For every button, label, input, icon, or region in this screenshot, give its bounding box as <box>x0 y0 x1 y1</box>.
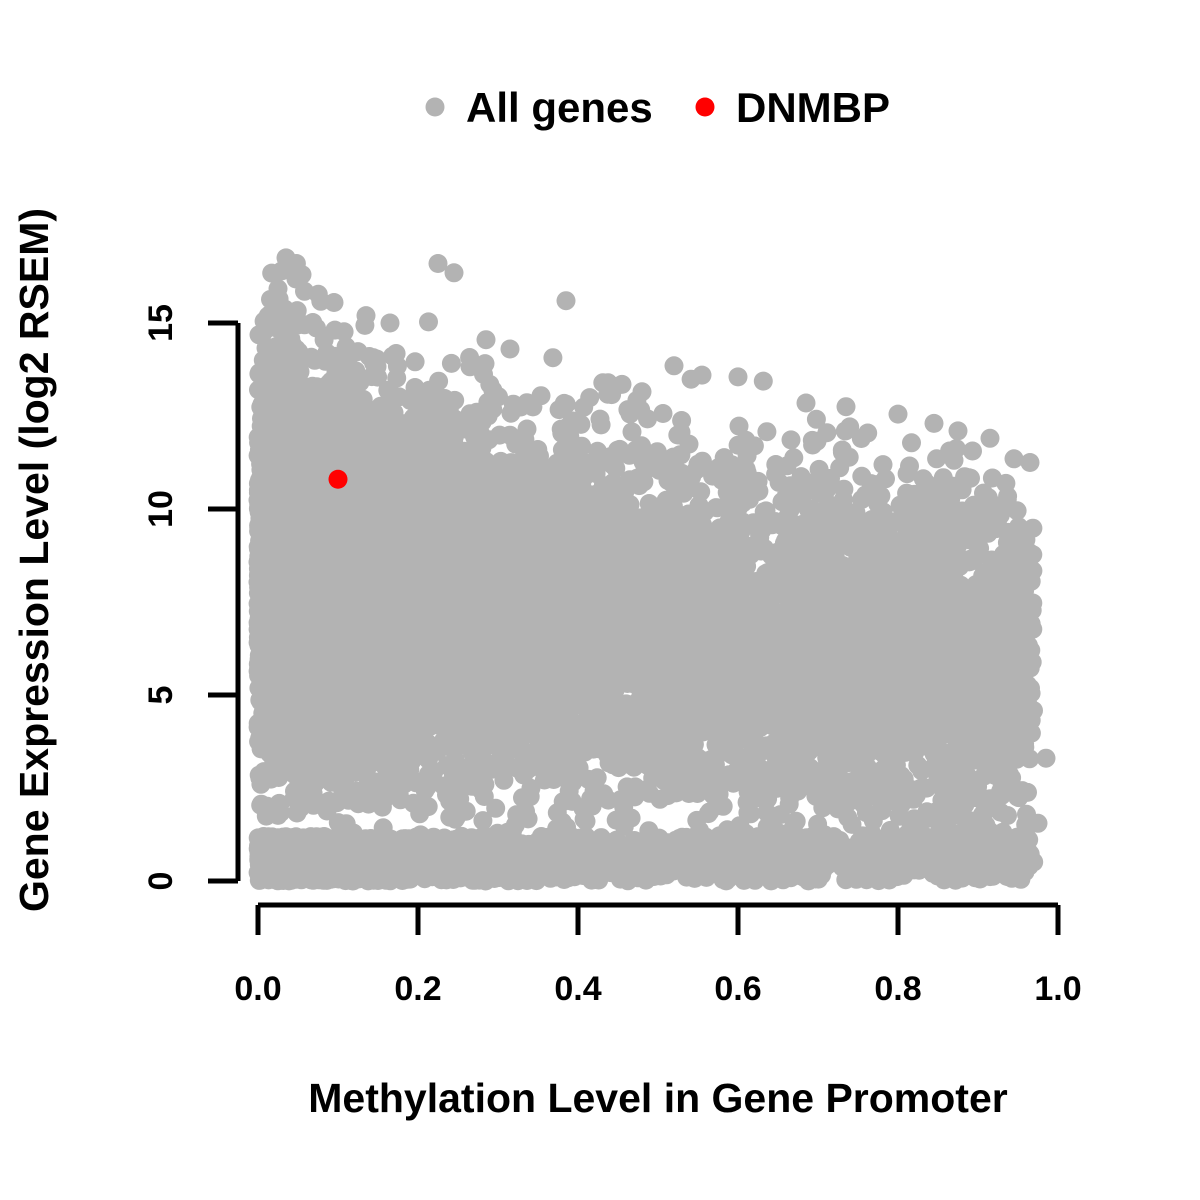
x-axis-tick-label: 0.8 <box>874 970 921 1008</box>
x-axis-tick-label: 0.2 <box>394 970 441 1008</box>
plot-canvas: 0.00.20.40.60.81.0051015 Methylation Lev… <box>0 0 1200 1200</box>
x-axis-tick-label: 0.4 <box>554 970 601 1008</box>
y-axis-title: Gene Expression Level (log2 RSEM) <box>11 208 57 912</box>
highlight-point-layer <box>329 470 348 489</box>
y-axis-tick-label: 5 <box>142 686 180 705</box>
y-axis-tick-label: 10 <box>142 490 180 528</box>
x-axis-tick-label: 0.6 <box>714 970 761 1008</box>
x-axis-title: Methylation Level in Gene Promoter <box>308 1075 1007 1121</box>
legend-label-all-genes: All genes <box>466 84 653 131</box>
legend-label-dnmbp: DNMBP <box>736 84 890 131</box>
y-axis-tick-label: 15 <box>142 304 180 342</box>
x-axis-tick-label: 0.0 <box>234 970 281 1008</box>
dnmbp-highlight-point <box>329 470 348 489</box>
y-axis-tick-label: 0 <box>142 872 180 891</box>
legend-marker-all-genes <box>426 98 445 117</box>
legend-marker-dnmbp <box>696 98 715 117</box>
scatter-plot-figure: 0.00.20.40.60.81.0051015 Methylation Lev… <box>0 0 1200 1200</box>
x-axis-tick-label: 1.0 <box>1034 970 1081 1008</box>
